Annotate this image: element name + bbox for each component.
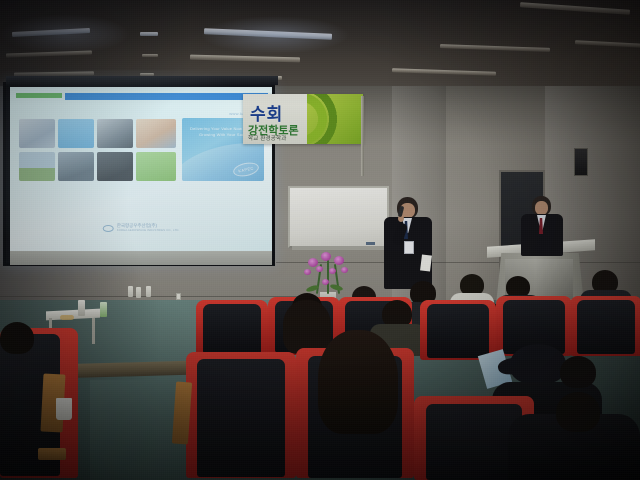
thumbnail-radar-photo [19,152,55,181]
slide-accent-green [16,93,62,98]
ceiling-light [12,28,90,37]
thumbnail-sky-photo [58,119,94,148]
orchid-bloom [329,268,336,274]
company-logo-icon [103,225,114,232]
thumbnail-keyboard-photo [97,152,133,181]
orchid-bloom [316,266,323,272]
slide-footer-text: 한국항공우주산업(주) KOREA AEROSPACE INDUSTRIES C… [117,223,180,233]
wall-speaker-icon [574,148,588,176]
light-glow [0,14,130,54]
speaker-name-badge [404,241,414,254]
ceiling-light [204,28,332,40]
flower-stem [327,260,329,294]
flower-leaf [330,283,344,291]
seat-back [427,304,489,358]
thumbnail-hands-globe-photo [136,119,176,148]
ceiling-light [140,32,158,36]
audience-head [560,356,596,388]
ceiling-light [392,68,496,76]
seat-back [577,300,635,354]
seat-back [203,304,261,354]
orchid-bloom [334,256,344,265]
seat [196,300,268,358]
slide-footer: 한국항공우주산업(주) KOREA AEROSPACE INDUSTRIES C… [103,223,180,233]
water-bottle [78,300,85,316]
event-banner: 수회 강전학토론 학교 환경공학과 [243,94,363,144]
seat-armrest [38,448,66,460]
wall-ledge-bottle [128,286,133,297]
orchid-bloom [321,252,331,261]
orchid-bloom [341,267,348,273]
power-outlet [176,293,181,300]
footer-company-subtext: KOREA AEROSPACE INDUSTRIES CO., LTD. [117,228,180,233]
thumbnail-factory-photo [58,152,94,181]
ceiling-light [520,2,630,15]
thumbnail-crowd-photo [19,119,55,148]
banner-pole [361,96,364,176]
slide-thumbnail-grid [19,119,179,181]
standing-speaker [381,197,435,293]
ceiling-light [142,54,158,57]
light-glow [200,16,350,54]
wall-ledge-bottle [146,286,151,297]
wall-ledge-bottle [136,287,141,298]
orchid-bloom [304,269,311,275]
auditorium-presentation-photo: www.kapec.com Delivering Your Value Now … [0,0,640,480]
seat-back [197,359,285,477]
projected-slide: www.kapec.com Delivering Your Value Now … [10,87,272,251]
ceiling-light [6,51,92,58]
ceiling-light [190,55,300,63]
slide-panel-logo: KAPEC [232,160,260,178]
audience-head [0,322,34,354]
audience-long-hair [318,330,398,434]
ceiling-light [575,40,640,48]
seat [420,300,496,362]
thumbnail-drill-photo [97,119,133,148]
orchid-bloom [322,279,329,285]
speaker-notes-paper [420,254,432,271]
screen-blank-area [10,251,272,265]
seat [186,352,296,480]
presenter-face [535,201,548,215]
table-leg [92,318,95,344]
banner-chevron-graphic [307,94,363,144]
whiteboard [288,186,389,248]
paper-cup [56,398,72,420]
whiteboard-magnet [366,242,375,245]
audience-head [556,392,600,432]
slide-accent-blue [65,93,268,100]
podium-presenter [520,196,566,254]
seat [570,296,640,358]
green-bottle [100,302,107,317]
ceiling-light [440,44,550,52]
audience-long-hair [283,300,331,354]
snack-plate [60,315,74,320]
banner-caption: 학교 환경공학과 [248,134,287,142]
projection-screen: www.kapec.com Delivering Your Value Now … [3,82,275,266]
whiteboard-tray [292,246,389,250]
screen-roller [6,76,278,85]
thumbnail-green-field-photo [136,152,176,181]
